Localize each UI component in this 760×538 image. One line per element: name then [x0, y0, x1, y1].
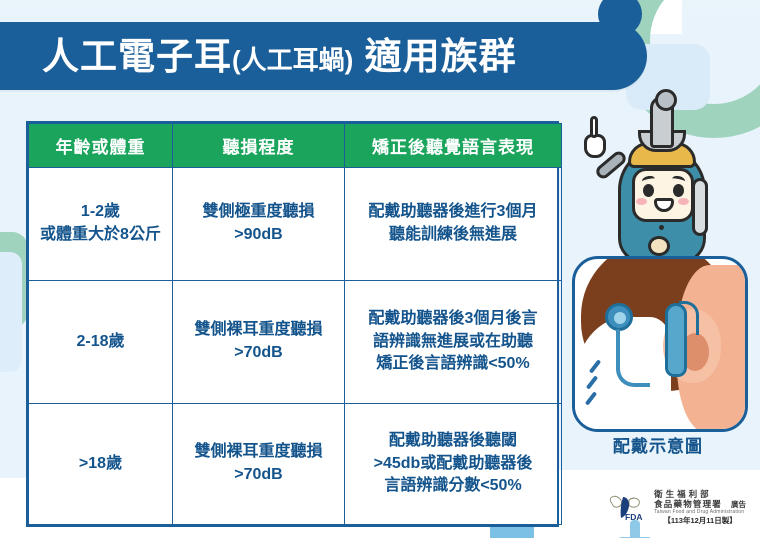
ear-diagram-card [572, 256, 748, 432]
column-header-hearing-loss: 聽損程度 [173, 124, 345, 168]
mascot-character [588, 94, 738, 272]
poster-canvas: 人工電子耳(人工耳蝸) 適用族群 年齡或體重 聽損程度 矯正後聽覺語言表現 1-… [0, 0, 760, 538]
mascot-face [632, 168, 694, 222]
footer-agency-line2: 食品藥物管理署 [654, 499, 722, 509]
title-parenthetical: (人工耳蝸) [232, 45, 353, 75]
page-title: 人工電子耳(人工耳蝸) 適用族群 [42, 38, 517, 75]
mascot-cheek-right [678, 198, 689, 205]
cell-performance-3: 配戴助聽器後聽閾>45db或配戴助聽器後言語辨識分數<50% [345, 404, 562, 525]
mascot-index-finger [590, 116, 598, 138]
column-header-performance: 矯正後聽覺語言表現 [345, 124, 562, 168]
cell-level-1: 雙側極重度聽損>90dB [173, 168, 345, 281]
cell-performance-2: 配戴助聽器後3個月後言語辨識無進展或在助聽矯正後言語辨識<50% [345, 281, 562, 404]
table-row: 1-2歲或體重大於8公斤 雙側極重度聽損>90dB 配戴助聽器後進行3個月聽能訓… [29, 168, 562, 281]
decor-lightblue-left-tab [0, 252, 22, 372]
fda-logo-icon: FDA [606, 493, 648, 523]
cell-performance-1: 配戴助聽器後進行3個月聽能訓練後無進展 [345, 168, 562, 281]
mascot-helmet-tip [650, 96, 674, 148]
table-row: >18歲 雙側裸耳重度聽損>70dB 配戴助聽器後聽閾>45db或配戴助聽器後言… [29, 404, 562, 525]
mascot-collar-dot [659, 225, 664, 230]
cell-level-3: 雙側裸耳重度聽損>70dB [173, 404, 345, 525]
title-banner: 人工電子耳(人工耳蝸) 適用族群 [0, 22, 647, 90]
mascot-eye-left [643, 184, 654, 197]
table-row: 2-18歲 雙側裸耳重度聽損>70dB 配戴助聽器後3個月後言語辨識無進展或在助… [29, 281, 562, 404]
mascot-arm-right [692, 178, 708, 236]
cell-age-3: >18歲 [29, 404, 173, 525]
criteria-table-wrapper: 年齡或體重 聽損程度 矯正後聽覺語言表現 1-2歲或體重大於8公斤 雙側極重度聽… [26, 121, 559, 527]
title-tail: 適用族群 [365, 36, 517, 77]
svg-text:FDA: FDA [625, 512, 642, 522]
illustration-zone: 配戴示意圖 [560, 96, 756, 441]
footer-logo-block: FDA 衛生福利部 食品藥物管理署 廣告 Taiwan Food and Dru… [606, 489, 746, 526]
column-header-age: 年齡或體重 [29, 124, 173, 168]
title-main: 人工電子耳 [42, 36, 232, 77]
cell-level-2: 雙側裸耳重度聽損>70dB [173, 281, 345, 404]
cell-age-1: 1-2歲或體重大於8公斤 [29, 168, 173, 281]
sound-processor-icon [665, 303, 687, 377]
footer-agency-text: 衛生福利部 食品藥物管理署 廣告 Taiwan Food and Drug Ad… [654, 489, 746, 526]
mascot-badge [648, 236, 670, 256]
footer-agency-line1: 衛生福利部 [654, 489, 746, 499]
coil-magnet-icon [605, 303, 633, 331]
mascot-eye-right [673, 184, 684, 197]
table-header-row: 年齡或體重 聽損程度 矯正後聽覺語言表現 [29, 124, 562, 168]
criteria-table: 年齡或體重 聽損程度 矯正後聽覺語言表現 1-2歲或體重大於8公斤 雙側極重度聽… [28, 123, 562, 525]
illustration-caption: 配戴示意圖 [560, 432, 756, 457]
footer-date-stamp: 【113年12月11日製】 [654, 517, 746, 526]
cell-age-2: 2-18歲 [29, 281, 173, 404]
mascot-cheek-left [636, 198, 647, 205]
